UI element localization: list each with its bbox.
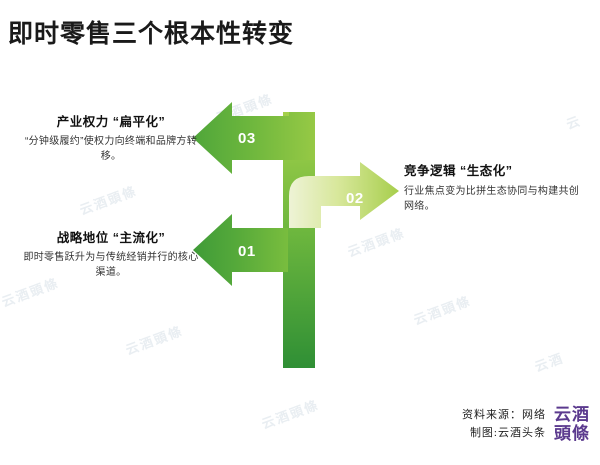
step-number-03: 03 — [238, 130, 256, 147]
footer-chart-line: 制图:云酒头条 — [462, 424, 546, 442]
step-number-02: 02 — [346, 190, 364, 207]
step-heading-03: 产业权力 “扁平化” — [22, 114, 200, 130]
step-text-01: 战略地位 “主流化” 即时零售跃升为与传统经销并行的核心渠道。 — [22, 230, 200, 280]
brand-logo-line1: 云酒 — [554, 405, 590, 424]
brand-logo: 云酒 頭條 — [554, 405, 590, 443]
step-text-03: 产业权力 “扁平化” “分钟级履约”使权力向终端和品牌方转移。 — [22, 114, 200, 164]
step-body-01: 即时零售跃升为与传统经销并行的核心渠道。 — [22, 250, 200, 280]
step-heading-02: 竞争逻辑 “生态化” — [404, 163, 584, 179]
step-body-03: “分钟级履约”使权力向终端和品牌方转移。 — [22, 134, 200, 164]
footer: 资料来源：网络 制图:云酒头条 云酒 頭條 — [462, 405, 590, 443]
step-number-01: 01 — [238, 243, 256, 260]
slide-canvas: 即时零售三个根本性转变 云酒頭條云酒頭條云云酒頭條云酒頭條云酒頭條云酒頭條云酒頭… — [0, 0, 600, 465]
brand-logo-line2: 頭條 — [554, 424, 590, 443]
step-body-02: 行业焦点变为比拼生态协同与构建共创网络。 — [404, 184, 584, 214]
footer-source: 资料来源：网络 制图:云酒头条 — [462, 406, 546, 442]
footer-source-line: 资料来源：网络 — [462, 406, 546, 424]
step-text-02: 竞争逻辑 “生态化” 行业焦点变为比拼生态协同与构建共创网络。 — [404, 163, 584, 214]
step-heading-01: 战略地位 “主流化” — [22, 230, 200, 246]
